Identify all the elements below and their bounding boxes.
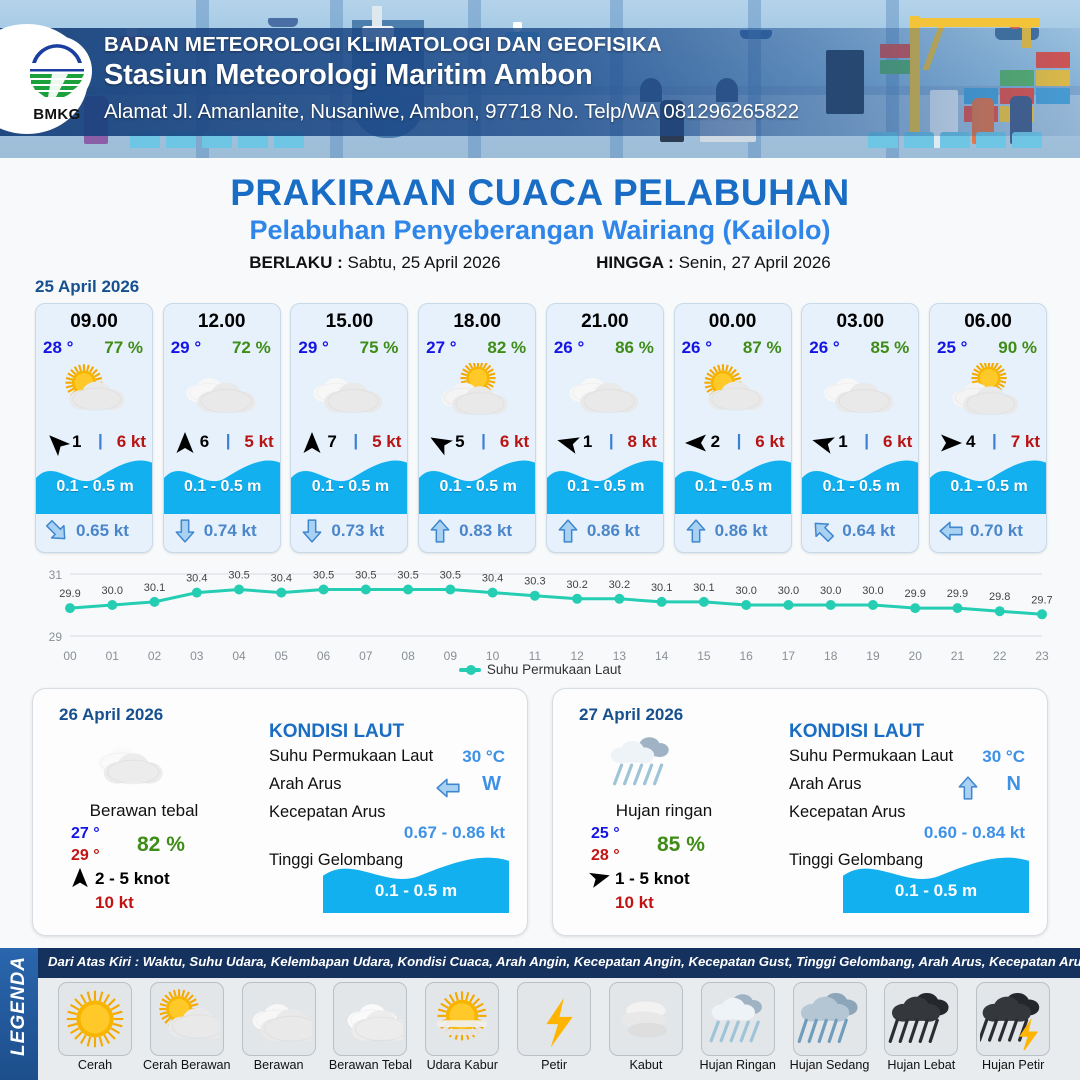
current-direction-arrow-icon (44, 518, 70, 544)
card-current-speed: 0.74 kt (204, 521, 257, 541)
svg-text:06: 06 (317, 649, 331, 663)
legend-icon-hujan-lebat-icon (884, 982, 958, 1056)
svg-text:30.3: 30.3 (524, 576, 545, 588)
daily-condition: Hujan ringan (553, 801, 775, 821)
svg-text:05: 05 (275, 649, 289, 663)
card-current-row: 0.70 kt (930, 514, 1047, 550)
card-time: 15.00 (291, 311, 407, 333)
card-weather-icon (164, 362, 281, 422)
svg-text:12: 12 (570, 649, 584, 663)
legend-icon-hujan-petir-icon (976, 982, 1050, 1056)
hourly-card[interactable]: 00.00 26 ° 87 % 2 | 6 kt 0.1 - 0.5 m (674, 303, 792, 553)
daily-date: 27 April 2026 (579, 705, 683, 725)
svg-text:30.0: 30.0 (862, 585, 883, 597)
card-wind-row: 7 | 5 kt (291, 430, 408, 456)
legend-item: Kabut (605, 982, 687, 1080)
card-wind-direction: 4 (966, 432, 975, 452)
card-wind-row: 1 | 6 kt (36, 430, 153, 456)
card-temperature: 28 ° (43, 338, 73, 358)
svg-text:29.9: 29.9 (905, 588, 926, 600)
legend-note-bar: Dari Atas Kiri : Waktu, Suhu Udara, Kele… (38, 948, 1080, 978)
row-label-sst: Suhu Permukaan Laut (789, 747, 953, 766)
card-humidity: 77 % (104, 338, 143, 358)
card-time: 00.00 (675, 311, 791, 333)
daily-humidity: 85 % (657, 833, 705, 857)
card-current-speed: 0.70 kt (970, 521, 1023, 541)
bmkg-logo-text: BMKG (22, 106, 92, 123)
card-humidity: 72 % (232, 338, 271, 358)
current-direction-arrow-icon (427, 518, 453, 544)
card-temperature: 25 ° (937, 338, 967, 358)
legend-icon-udara-kabur-icon (425, 982, 499, 1056)
legend-item-label: Berawan Tebal (325, 1058, 415, 1072)
legend-icon-berawan-tebal-icon (333, 982, 407, 1056)
card-wind-speed: 5 kt (244, 432, 273, 452)
svg-text:04: 04 (232, 649, 246, 663)
daily-wave-height: 0.1 - 0.5 m (323, 881, 509, 901)
chart-legend-marker-icon (459, 668, 481, 672)
legend-item-label: Hujan Lebat (876, 1058, 966, 1072)
legend-icon-kabut-icon (609, 982, 683, 1056)
svg-text:20: 20 (909, 649, 923, 663)
svg-text:30.0: 30.0 (102, 585, 123, 597)
hourly-card[interactable]: 12.00 29 ° 72 % 6 | 5 kt 0.1 - 0 (163, 303, 281, 553)
daily-forecast-panel[interactable]: 26 April 2026 Berawan tebal 27 ° 29 ° 82… (32, 688, 528, 936)
card-wave-band: 0.1 - 0.5 m (930, 454, 1047, 514)
card-wind-direction: 1 (583, 432, 592, 452)
svg-text:30.2: 30.2 (566, 579, 587, 591)
svg-text:30.1: 30.1 (144, 582, 165, 594)
svg-text:30.4: 30.4 (482, 573, 503, 585)
card-time: 18.00 (419, 311, 535, 333)
daily-temp-min: 27 ° (71, 825, 100, 843)
daily-temp-min: 25 ° (591, 825, 620, 843)
card-wave-height: 0.1 - 0.5 m (419, 478, 536, 496)
svg-text:09: 09 (444, 649, 458, 663)
card-wind-direction: 2 (711, 432, 720, 452)
card-weather-icon (547, 362, 664, 422)
legend-items: Cerah Cerah Berawan Berawan (38, 978, 1080, 1080)
daily-wave-height: 0.1 - 0.5 m (843, 881, 1029, 901)
row-label-sst: Suhu Permukaan Laut (269, 747, 433, 766)
valid-until-label: HINGGA : (596, 253, 674, 272)
legend-item: Hujan Lebat (880, 982, 962, 1080)
page-title: PRAKIRAAN CUACA PELABUHAN (0, 172, 1080, 214)
card-weather-icon (291, 362, 408, 422)
card-wave-height: 0.1 - 0.5 m (164, 478, 281, 496)
card-weather-icon (930, 362, 1047, 422)
svg-text:30.4: 30.4 (271, 573, 292, 585)
svg-text:11: 11 (529, 649, 542, 663)
card-wind-row: 5 | 6 kt (419, 430, 536, 456)
daily-gust: 10 kt (95, 893, 134, 913)
hourly-date: 25 April 2026 (35, 277, 139, 297)
sea-condition-title: KONDISI LAUT (789, 721, 924, 743)
svg-text:08: 08 (401, 649, 415, 663)
current-direction-arrow-icon (555, 518, 581, 544)
hourly-card[interactable]: 09.00 28 ° 77 % 1 | 6 kt 0.1 - 0.5 m (35, 303, 153, 553)
card-current-speed: 0.86 kt (715, 521, 768, 541)
legend-item: Cerah Berawan (146, 982, 228, 1080)
daily-current-arrow-icon (955, 775, 981, 801)
card-wind-speed: 7 kt (1011, 432, 1040, 452)
svg-text:29: 29 (49, 630, 63, 644)
card-temperature: 26 ° (554, 338, 584, 358)
agency-name: BADAN METEOROLOGI KLIMATOLOGI DAN GEOFIS… (104, 33, 662, 57)
card-wind-row: 2 | 6 kt (675, 430, 792, 456)
card-temperature: 27 ° (426, 338, 456, 358)
card-humidity: 75 % (360, 338, 399, 358)
card-weather-icon (802, 362, 919, 422)
card-wind-row: 1 | 8 kt (547, 430, 664, 456)
legend-icon-cerah-berawan-icon (150, 982, 224, 1056)
svg-text:19: 19 (866, 649, 880, 663)
wind-direction-arrow-icon (300, 431, 324, 455)
svg-text:30.0: 30.0 (735, 585, 756, 597)
card-temperature: 29 ° (171, 338, 201, 358)
svg-text:18: 18 (824, 649, 838, 663)
wind-separator: | (864, 431, 869, 451)
legend-sidebar-label: LEGENDA (8, 949, 30, 1063)
card-wind-speed: 6 kt (117, 432, 146, 452)
daily-weather-icon (599, 731, 709, 793)
card-temperature: 29 ° (298, 338, 328, 358)
station-address: Alamat Jl. Amanlanite, Nusaniwe, Ambon, … (104, 100, 799, 124)
card-time: 03.00 (802, 311, 918, 333)
svg-text:16: 16 (739, 649, 753, 663)
card-current-row: 0.64 kt (802, 514, 919, 550)
wind-direction-arrow-icon (45, 431, 69, 455)
card-humidity: 90 % (998, 338, 1037, 358)
wind-separator: | (992, 431, 997, 451)
card-current-speed: 0.65 kt (76, 521, 129, 541)
chart-legend: Suhu Permukaan Laut (0, 662, 1080, 677)
daily-sst-value: 30 °C (462, 747, 505, 767)
legend-item: Hujan Petir (972, 982, 1054, 1080)
hourly-card[interactable]: 21.00 26 ° 86 % 1 | 8 kt 0.1 - 0 (546, 303, 664, 553)
card-current-row: 0.86 kt (547, 514, 664, 550)
svg-text:22: 22 (993, 649, 1007, 663)
card-humidity: 82 % (487, 338, 526, 358)
card-wind-direction: 1 (72, 432, 81, 452)
current-direction-arrow-icon (683, 518, 709, 544)
card-time: 09.00 (36, 311, 152, 333)
wind-separator: | (737, 431, 742, 451)
legend-icon-petir-icon (517, 982, 591, 1056)
daily-wind: 2 - 5 knot (95, 869, 170, 889)
card-weather-icon (675, 362, 792, 422)
card-time: 06.00 (930, 311, 1046, 333)
daily-temp-max: 29 ° (71, 847, 100, 865)
svg-text:07: 07 (359, 649, 373, 663)
legend-note: Dari Atas Kiri : Waktu, Suhu Udara, Kele… (48, 954, 1080, 969)
svg-text:30.2: 30.2 (609, 579, 630, 591)
legend-item: Petir (513, 982, 595, 1080)
card-wave-band: 0.1 - 0.5 m (419, 454, 536, 514)
svg-text:30.5: 30.5 (313, 570, 334, 582)
daily-forecast-row: 26 April 2026 Berawan tebal 27 ° 29 ° 82… (32, 688, 1048, 936)
card-wave-band: 0.1 - 0.5 m (36, 454, 153, 514)
card-wind-direction: 7 (327, 432, 336, 452)
card-current-row: 0.74 kt (164, 514, 281, 550)
station-name: Stasiun Meteorologi Maritim Ambon (104, 59, 593, 92)
card-wind-speed: 6 kt (755, 432, 784, 452)
svg-text:03: 03 (190, 649, 204, 663)
card-wind-speed: 6 kt (500, 432, 529, 452)
sea-condition-title: KONDISI LAUT (269, 721, 404, 743)
card-current-row: 0.73 kt (291, 514, 408, 550)
daily-current-speed: 0.60 - 0.84 kt (924, 823, 1025, 843)
legend-item-label: Hujan Sedang (785, 1058, 875, 1072)
legend-sidebar: LEGENDA (0, 948, 38, 1080)
daily-temp-max: 28 ° (591, 847, 620, 865)
wind-separator: | (481, 431, 486, 451)
legend-item: Cerah (54, 982, 136, 1080)
legend-item-label: Petir (509, 1058, 599, 1072)
card-wind-direction: 1 (838, 432, 847, 452)
card-current-speed: 0.86 kt (587, 521, 640, 541)
svg-text:29.7: 29.7 (1031, 594, 1052, 606)
wind-separator: | (353, 431, 358, 451)
card-current-row: 0.65 kt (36, 514, 153, 550)
daily-current-arrow-icon (435, 775, 461, 801)
svg-text:30.1: 30.1 (693, 582, 714, 594)
svg-text:29.9: 29.9 (59, 588, 80, 600)
daily-gust: 10 kt (615, 893, 654, 913)
svg-text:30.4: 30.4 (186, 573, 207, 585)
wind-separator: | (609, 431, 614, 451)
svg-text:01: 01 (106, 649, 120, 663)
wind-direction-arrow-icon (428, 431, 452, 455)
bmkg-emblem-icon (22, 36, 92, 106)
card-humidity: 87 % (743, 338, 782, 358)
card-current-speed: 0.73 kt (331, 521, 384, 541)
card-wave-band: 0.1 - 0.5 m (164, 454, 281, 514)
svg-text:30.5: 30.5 (440, 570, 461, 582)
card-wave-height: 0.1 - 0.5 m (802, 478, 919, 496)
wind-separator: | (226, 431, 231, 451)
svg-text:17: 17 (782, 649, 796, 663)
wind-direction-arrow-icon (173, 431, 197, 455)
daily-forecast-panel[interactable]: 27 April 2026 Hujan ringan 25 ° 28 ° 85 … (552, 688, 1048, 936)
wind-separator: | (98, 431, 103, 451)
card-wave-band: 0.1 - 0.5 m (291, 454, 408, 514)
svg-text:30.5: 30.5 (397, 570, 418, 582)
daily-current-direction: N (1007, 773, 1021, 796)
card-wave-band: 0.1 - 0.5 m (547, 454, 664, 514)
legend-item: Berawan Tebal (329, 982, 411, 1080)
card-wave-height: 0.1 - 0.5 m (930, 478, 1047, 496)
legend-item-label: Cerah Berawan (142, 1058, 232, 1072)
daily-condition: Berawan tebal (33, 801, 255, 821)
row-label-current-speed: Kecepatan Arus (789, 803, 906, 822)
svg-text:23: 23 (1035, 649, 1049, 663)
card-wind-row: 1 | 6 kt (802, 430, 919, 456)
daily-current-direction: W (482, 773, 501, 796)
wind-direction-arrow-icon (684, 431, 708, 455)
daily-sst-value: 30 °C (982, 747, 1025, 767)
chart-legend-label: Suhu Permukaan Laut (487, 662, 621, 677)
card-temperature: 26 ° (809, 338, 839, 358)
current-direction-arrow-icon (299, 518, 325, 544)
card-wind-speed: 5 kt (372, 432, 401, 452)
legend-item-label: Kabut (601, 1058, 691, 1072)
svg-text:30.0: 30.0 (778, 585, 799, 597)
row-label-current-speed: Kecepatan Arus (269, 803, 386, 822)
svg-text:14: 14 (655, 649, 669, 663)
legend-item-label: Berawan (234, 1058, 324, 1072)
hourly-card[interactable]: 18.00 27 ° 82 % 5 | 6 kt (418, 303, 536, 553)
legend-item: Udara Kabur (421, 982, 503, 1080)
current-direction-arrow-icon (938, 518, 964, 544)
page-subtitle: Pelabuhan Penyeberangan Wairiang (Kailol… (0, 215, 1080, 246)
card-weather-icon (419, 362, 536, 422)
card-wave-height: 0.1 - 0.5 m (36, 478, 153, 496)
card-wave-height: 0.1 - 0.5 m (291, 478, 408, 496)
svg-text:15: 15 (697, 649, 711, 663)
wind-direction-arrow-icon (811, 431, 835, 455)
card-current-row: 0.86 kt (675, 514, 792, 550)
legend-item-label: Hujan Petir (968, 1058, 1058, 1072)
svg-text:13: 13 (613, 649, 627, 663)
daily-wind: 1 - 5 knot (615, 869, 690, 889)
daily-weather-icon (79, 731, 189, 793)
hourly-card[interactable]: 06.00 25 ° 90 % 4 | 7 kt (929, 303, 1047, 553)
card-wind-row: 4 | 7 kt (930, 430, 1047, 456)
hourly-card[interactable]: 15.00 29 ° 75 % 7 | 5 kt 0.1 - 0 (290, 303, 408, 553)
hourly-card[interactable]: 03.00 26 ° 85 % 1 | 6 kt 0.1 - 0 (801, 303, 919, 553)
daily-current-speed: 0.67 - 0.86 kt (404, 823, 505, 843)
svg-text:02: 02 (148, 649, 162, 663)
card-humidity: 86 % (615, 338, 654, 358)
card-current-speed: 0.64 kt (842, 521, 895, 541)
svg-text:29.9: 29.9 (947, 588, 968, 600)
card-time: 21.00 (547, 311, 663, 333)
legend-section: LEGENDA Dari Atas Kiri : Waktu, Suhu Uda… (0, 948, 1080, 1080)
svg-text:31: 31 (49, 568, 63, 582)
card-wave-band: 0.1 - 0.5 m (675, 454, 792, 514)
validity-row: BERLAKU : Sabtu, 25 April 2026 HINGGA : … (0, 253, 1080, 273)
svg-text:30.0: 30.0 (820, 585, 841, 597)
svg-text:00: 00 (63, 649, 77, 663)
legend-item-label: Cerah (50, 1058, 140, 1072)
current-direction-arrow-icon (172, 518, 198, 544)
legend-item: Hujan Sedang (789, 982, 871, 1080)
legend-icon-cerah-icon (58, 982, 132, 1056)
legend-item: Hujan Ringan (697, 982, 779, 1080)
card-wind-speed: 6 kt (883, 432, 912, 452)
row-label-current-direction: Arah Arus (269, 775, 341, 794)
svg-text:30.5: 30.5 (355, 570, 376, 582)
valid-until-value: Senin, 27 April 2026 (679, 253, 831, 272)
daily-wind-arrow-icon (589, 867, 611, 889)
svg-text:30.1: 30.1 (651, 582, 672, 594)
legend-icon-hujan-sedang-icon (793, 982, 867, 1056)
svg-text:29.8: 29.8 (989, 591, 1010, 603)
page-header: BMKG BADAN METEOROLOGI KLIMATOLOGI DAN G… (0, 0, 1080, 158)
card-wind-direction: 5 (455, 432, 464, 452)
legend-item-label: Hujan Ringan (693, 1058, 783, 1072)
valid-from-value: Sabtu, 25 April 2026 (347, 253, 500, 272)
valid-from-label: BERLAKU : (249, 253, 343, 272)
svg-text:30.5: 30.5 (228, 570, 249, 582)
card-wind-speed: 8 kt (628, 432, 657, 452)
card-current-row: 0.83 kt (419, 514, 536, 550)
card-weather-icon (36, 362, 153, 422)
card-wind-row: 6 | 5 kt (164, 430, 281, 456)
legend-item: Berawan (238, 982, 320, 1080)
card-wave-height: 0.1 - 0.5 m (675, 478, 792, 496)
hourly-forecast-row: 09.00 28 ° 77 % 1 | 6 kt 0.1 - 0.5 m (35, 303, 1047, 553)
bmkg-logo: BMKG (0, 24, 88, 134)
card-current-speed: 0.83 kt (459, 521, 512, 541)
daily-wave-band: 0.1 - 0.5 m (843, 851, 1029, 913)
row-label-current-direction: Arah Arus (789, 775, 861, 794)
svg-text:21: 21 (951, 649, 965, 663)
current-direction-arrow-icon (810, 518, 836, 544)
legend-item-label: Udara Kabur (417, 1058, 507, 1072)
daily-date: 26 April 2026 (59, 705, 163, 725)
card-wave-band: 0.1 - 0.5 m (802, 454, 919, 514)
wind-direction-arrow-icon (556, 431, 580, 455)
daily-humidity: 82 % (137, 833, 185, 857)
legend-icon-hujan-ringan-icon (701, 982, 775, 1056)
card-wind-direction: 6 (200, 432, 209, 452)
card-wave-height: 0.1 - 0.5 m (547, 478, 664, 496)
daily-wind-arrow-icon (69, 867, 91, 889)
card-temperature: 26 ° (682, 338, 712, 358)
svg-text:10: 10 (486, 649, 500, 663)
wind-direction-arrow-icon (939, 431, 963, 455)
daily-wave-band: 0.1 - 0.5 m (323, 851, 509, 913)
legend-icon-berawan-icon (242, 982, 316, 1056)
card-humidity: 85 % (871, 338, 910, 358)
card-time: 12.00 (164, 311, 280, 333)
